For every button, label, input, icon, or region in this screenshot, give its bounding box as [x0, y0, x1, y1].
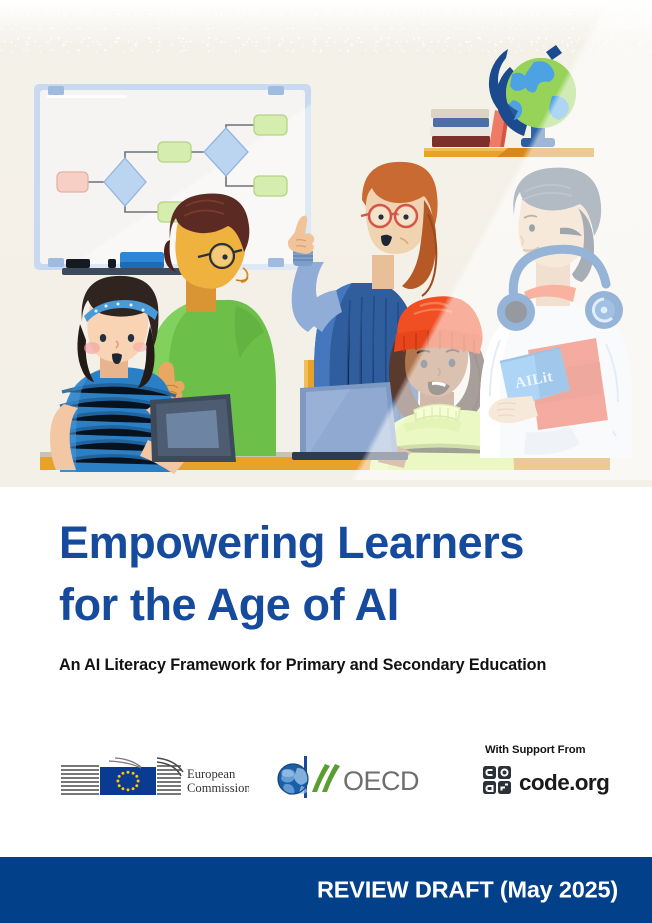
oecd-logo: OECD — [275, 758, 420, 805]
laptop-device — [292, 382, 408, 460]
classroom-scene-svg: AILit — [0, 0, 652, 487]
flow-node-process-1 — [158, 142, 191, 162]
code-org-logo: code.org — [483, 764, 652, 803]
page-subtitle: An AI Literacy Framework for Primary and… — [59, 656, 599, 675]
oecd-swoosh — [312, 764, 340, 792]
page-title-line-1: Empowering Learners — [59, 512, 599, 574]
document-cover-page: AILit Empowering Learners for the Age of… — [0, 0, 652, 923]
student-with-book: AILit — [480, 168, 632, 458]
flow-node-start — [57, 172, 88, 192]
wall-shelf — [424, 148, 594, 157]
review-draft-banner: REVIEW DRAFT (May 2025) — [0, 857, 652, 923]
oecd-wordmark: OECD — [343, 766, 419, 796]
support-label: With Support From — [485, 744, 652, 756]
book-stack — [430, 109, 509, 147]
european-commission-logo: European Commission — [59, 754, 249, 809]
ec-label-line-1: European — [187, 767, 236, 781]
ec-label-line-2: Commission — [187, 781, 249, 795]
flow-node-process-3 — [254, 115, 287, 135]
tablet-device — [150, 394, 236, 462]
logo-row: European Commission — [59, 744, 604, 816]
page-title-line-2: for the Age of AI — [59, 574, 599, 636]
oecd-globe — [278, 764, 308, 795]
cover-illustration: AILit — [0, 0, 652, 487]
support-block: With Support From code.org — [483, 744, 652, 803]
code-org-tiles — [483, 766, 511, 794]
flow-node-process-4 — [254, 176, 287, 196]
title-block: Empowering Learners for the Age of AI An… — [59, 512, 599, 675]
review-draft-text: REVIEW DRAFT (May 2025) — [317, 877, 618, 904]
code-org-wordmark: code.org — [519, 770, 609, 795]
